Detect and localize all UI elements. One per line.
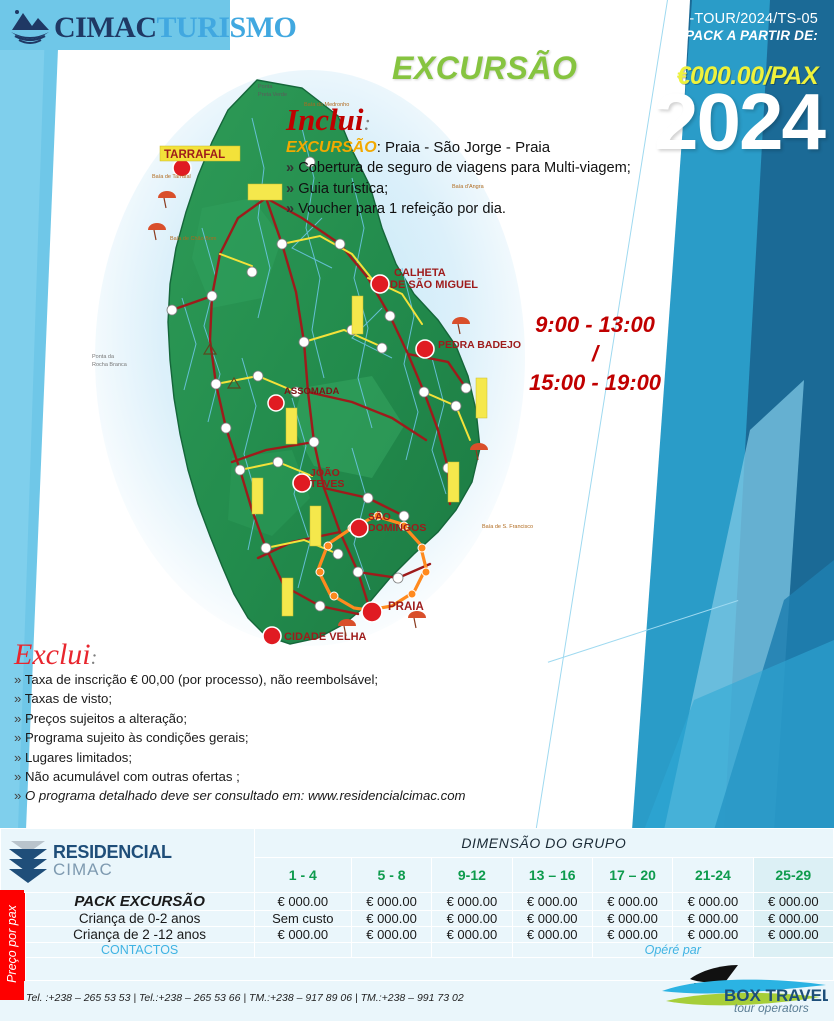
price-per-pax-label-bar: Preço por pax: [0, 890, 24, 1000]
price-cell: € 000.00: [673, 911, 753, 927]
empty-cell: [753, 943, 833, 958]
column-header-5-8: 5 - 8: [351, 858, 431, 893]
svg-text:Preta Verde: Preta Verde: [258, 92, 287, 98]
inclui-item: » Guia turística;: [286, 179, 672, 200]
mountain-waves-icon: [8, 8, 52, 48]
svg-text:Baía de Tarrafal: Baía de Tarrafal: [152, 174, 191, 180]
price-cell: € 000.00: [351, 927, 431, 943]
price-cell: € 000.00: [254, 893, 351, 911]
contacts-label[interactable]: CONTACTOS: [25, 943, 254, 958]
price-cell: € 000.00: [351, 893, 431, 911]
column-header-21-24: 21-24: [673, 858, 753, 893]
svg-text:TARRAFAL: TARRAFAL: [164, 149, 225, 161]
chevron-logo-icon: [7, 837, 49, 885]
schedule-separator: /: [500, 339, 690, 368]
price-cell: € 000.00: [673, 927, 753, 943]
schedule-block: 9:00 - 13:00 / 15:00 - 19:00: [500, 310, 690, 397]
group-size-header: DIMENSÃO DO GRUPO: [254, 829, 833, 858]
operated-by-label: Opéré par: [592, 943, 753, 958]
contact-phones: Tel. :+238 – 265 53 53 | Tel.:+238 – 265…: [26, 992, 464, 1004]
svg-text:Baía de Chão Bom: Baía de Chão Bom: [170, 236, 217, 242]
table-row: Criança de 0-2 anos Sem custo € 000.00 €…: [1, 911, 834, 927]
inclui-section: Inclui: EXCURSÃO: Praia - São Jorge - Pr…: [286, 104, 672, 220]
inclui-route-line: EXCURSÃO: Praia - São Jorge - Praia: [286, 138, 672, 158]
table-row-contacts: CONTACTOS Opéré par: [1, 943, 834, 958]
price-cell: € 000.00: [512, 911, 592, 927]
exclui-heading: Exclui:: [14, 640, 534, 670]
exclui-item: » Taxas de visto;: [14, 689, 534, 708]
table-row: Criança de 2 -12 anos € 000.00 € 000.00 …: [1, 927, 834, 943]
reference-code: RF-TOUR/2024/TS-05: [670, 10, 818, 28]
price-cell: € 000.00: [592, 927, 672, 943]
exclui-item: » Programa sujeito às condições gerais;: [14, 728, 534, 747]
exclui-item: » Preços sujeitos a alteração;: [14, 709, 534, 728]
exclui-item: » O programa detalhado deve ser consulta…: [14, 786, 534, 805]
price-cell: € 000.00: [432, 927, 512, 943]
row-label-child-0-2: Criança de 0-2 anos: [25, 911, 254, 927]
price-cell: € 000.00: [254, 927, 351, 943]
empty-cell: [254, 943, 351, 958]
price-cell: € 000.00: [592, 893, 672, 911]
svg-text:Ponta da: Ponta da: [92, 354, 115, 360]
price-cell: € 000.00: [673, 893, 753, 911]
price-cell: € 000.00: [753, 927, 833, 943]
inclui-excursion-label: EXCURSÃO: [286, 139, 377, 156]
schedule-morning: 9:00 - 13:00: [500, 310, 690, 339]
exclui-section: Exclui: » Taxa de inscrição € 00,00 (por…: [14, 640, 534, 806]
svg-text:CALHETA: CALHETA: [394, 267, 446, 279]
reference-block: RF-TOUR/2024/TS-05 PACK A PARTIR DE:: [670, 10, 818, 45]
price-cell: € 000.00: [432, 911, 512, 927]
svg-text:Rocha Branca: Rocha Branca: [92, 362, 128, 368]
pack-from-label: PACK A PARTIR DE:: [670, 28, 818, 45]
brand-secondary: TURISMO: [157, 11, 297, 44]
svg-text:Baía de S. Francisco: Baía de S. Francisco: [482, 524, 533, 530]
price-cell: € 000.00: [753, 893, 833, 911]
exclui-item: » Taxa de inscrição € 00,00 (por process…: [14, 670, 534, 689]
price-cell: € 000.00: [512, 927, 592, 943]
empty-cell: [512, 943, 592, 958]
row-label-child-2-12: Criança de 2 -12 anos: [25, 927, 254, 943]
table-row: PACK EXCURSÃO € 000.00 € 000.00 € 000.00…: [1, 893, 834, 911]
box-travel-logo: BOX TRAVEL tour operators: [660, 957, 828, 1015]
price-cell: Sem custo: [254, 911, 351, 927]
table-row-group-header: RESIDENCIAL CIMAC DIMENSÃO DO GRUPO: [1, 829, 834, 858]
column-header-1-4: 1 - 4: [254, 858, 351, 893]
column-header-13-16: 13 – 16: [512, 858, 592, 893]
empty-cell: [432, 943, 512, 958]
partner-logo-line2: tour operators: [734, 1001, 809, 1015]
column-header-17-20: 17 – 20: [592, 858, 672, 893]
residencial-logo-line2: CIMAC: [53, 861, 172, 878]
exclui-item: » Lugares limitados;: [14, 748, 534, 767]
cimac-logo: CIMACTURISMO: [8, 8, 296, 48]
svg-text:ASSOMADA: ASSOMADA: [284, 386, 340, 397]
residencial-logo-cell: RESIDENCIAL CIMAC: [1, 829, 255, 893]
price-cell: € 000.00: [753, 911, 833, 927]
column-header-9-12: 9-12: [432, 858, 512, 893]
page-title: EXCURSÃO: [392, 50, 577, 87]
price-cell: € 000.00: [432, 893, 512, 911]
inclui-route: : Praia - São Jorge - Praia: [377, 139, 550, 156]
exclui-item: » Não acumulável com outras ofertas ;: [14, 767, 534, 786]
inclui-item: » Voucher para 1 refeição por dia.: [286, 199, 672, 220]
brochure-page: TARRAFAL CALHETA DE SÃO MIGUEL PEDRA BAD…: [0, 0, 834, 1021]
residencial-logo-line1: RESIDENCIAL: [53, 843, 172, 861]
year-label: 2024: [654, 82, 824, 162]
svg-text:Ponta: Ponta: [258, 84, 273, 90]
brand-primary: CIMAC: [54, 11, 157, 44]
schedule-afternoon: 15:00 - 19:00: [500, 368, 690, 397]
price-per-pax-text: Preço por pax: [5, 889, 19, 999]
price-cell: € 000.00: [351, 911, 431, 927]
inclui-item: » Cobertura de seguro de viagens para Mu…: [286, 158, 672, 179]
svg-text:DE SÃO MIGUEL: DE SÃO MIGUEL: [390, 278, 478, 291]
svg-text:TEVES: TEVES: [310, 478, 344, 490]
column-header-25-29: 25-29: [753, 858, 833, 893]
price-cell: € 000.00: [512, 893, 592, 911]
row-label-pack: PACK EXCURSÃO: [25, 893, 254, 911]
inclui-heading: Inclui:: [286, 104, 672, 135]
empty-cell: [351, 943, 431, 958]
svg-text:DOMINGOS: DOMINGOS: [368, 522, 426, 534]
price-cell: € 000.00: [592, 911, 672, 927]
